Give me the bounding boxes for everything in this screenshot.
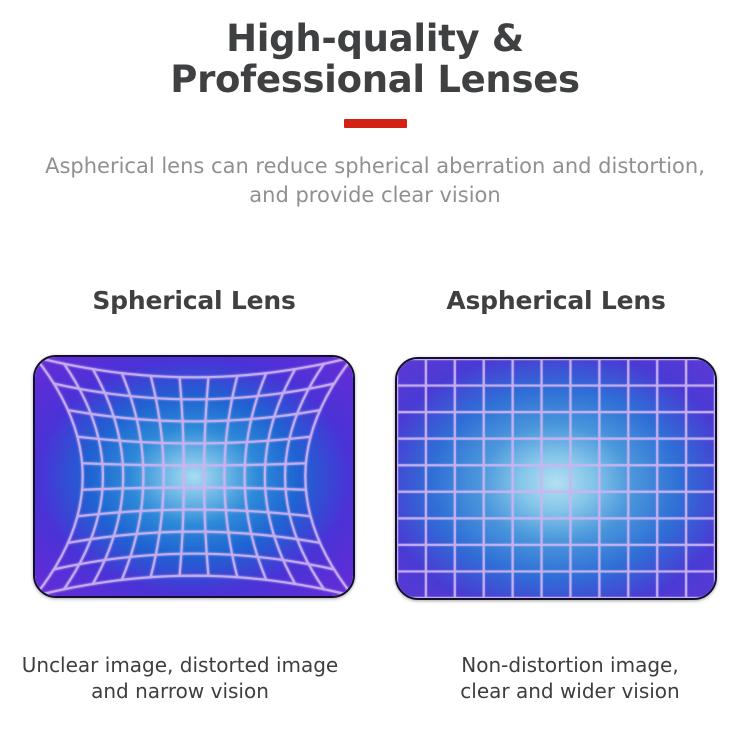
caption-spherical-line-1: Unclear image, distorted image bbox=[10, 652, 350, 678]
caption-aspherical-line-1: Non-distortion image, bbox=[400, 652, 740, 678]
title-underline-container bbox=[0, 119, 750, 128]
page-subtitle-line-2: and provide clear vision bbox=[0, 181, 750, 210]
lens-comparison-infographic: High-quality & Professional Lenses Asphe… bbox=[0, 0, 750, 750]
header-section: High-quality & Professional Lenses bbox=[0, 0, 750, 101]
caption-spherical: Unclear image, distorted image and narro… bbox=[10, 652, 350, 705]
lens-image-aspherical bbox=[395, 357, 717, 600]
caption-aspherical: Non-distortion image, clear and wider vi… bbox=[400, 652, 740, 705]
heading-spherical-lens: Spherical Lens bbox=[24, 286, 364, 326]
page-subtitle-line-1: Aspherical lens can reduce spherical abe… bbox=[0, 152, 750, 181]
page-title-line-1: High-quality & bbox=[0, 18, 750, 59]
aspherical-lens-grid-svg bbox=[397, 359, 715, 598]
page-title: High-quality & Professional Lenses bbox=[0, 0, 750, 101]
column-spherical: Spherical Lens bbox=[24, 286, 364, 598]
title-accent-rule bbox=[344, 119, 407, 128]
column-aspherical: Aspherical Lens bbox=[386, 286, 726, 600]
page-title-line-2: Professional Lenses bbox=[0, 59, 750, 100]
lens-image-spherical bbox=[33, 355, 355, 598]
spherical-lens-grid-svg bbox=[35, 357, 353, 596]
page-subtitle: Aspherical lens can reduce spherical abe… bbox=[0, 152, 750, 210]
heading-aspherical-lens: Aspherical Lens bbox=[386, 286, 726, 326]
caption-aspherical-line-2: clear and wider vision bbox=[400, 678, 740, 704]
caption-spherical-line-2: and narrow vision bbox=[10, 678, 350, 704]
comparison-columns: Spherical Lens bbox=[0, 286, 750, 726]
